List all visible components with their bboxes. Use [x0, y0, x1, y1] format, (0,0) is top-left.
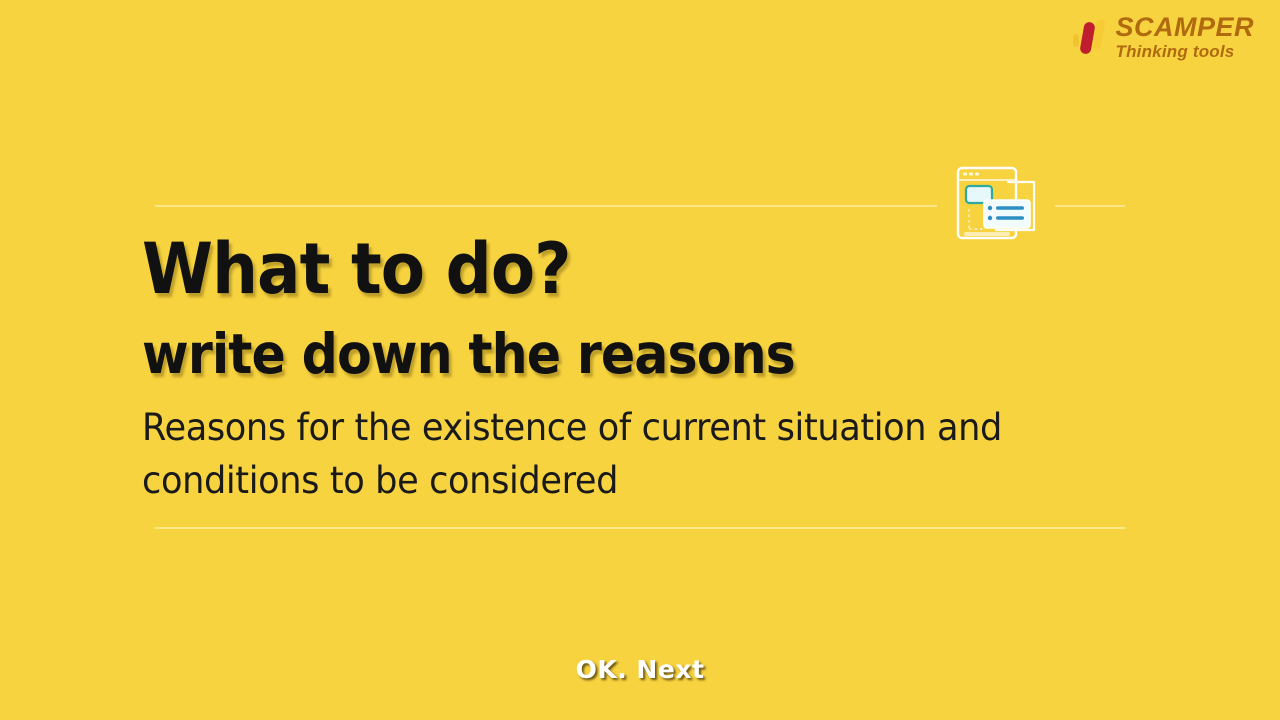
page-title-primary: What to do? [142, 234, 571, 304]
brand-name: SCAMPER [1115, 14, 1254, 41]
browser-window-list-card-icon [950, 160, 1050, 245]
scamper-logo-mark-icon [1073, 17, 1107, 57]
divider-top-left [155, 205, 937, 207]
logo-bar-gold [1093, 19, 1106, 50]
page-title-secondary: write down the reasons [142, 327, 795, 382]
divider-bottom [155, 527, 1125, 529]
logo-bar-small [1073, 34, 1079, 47]
brand-text: SCAMPER Thinking tools [1115, 14, 1254, 60]
divider-top-right [1055, 205, 1125, 207]
brand-logo: SCAMPER Thinking tools [1073, 14, 1254, 60]
footer-caption: OK. Next [0, 655, 1280, 684]
brand-tagline: Thinking tools [1115, 43, 1254, 60]
slide-canvas: SCAMPER Thinking tools [0, 0, 1280, 720]
body-paragraph: Reasons for the existence of current sit… [142, 402, 1054, 507]
